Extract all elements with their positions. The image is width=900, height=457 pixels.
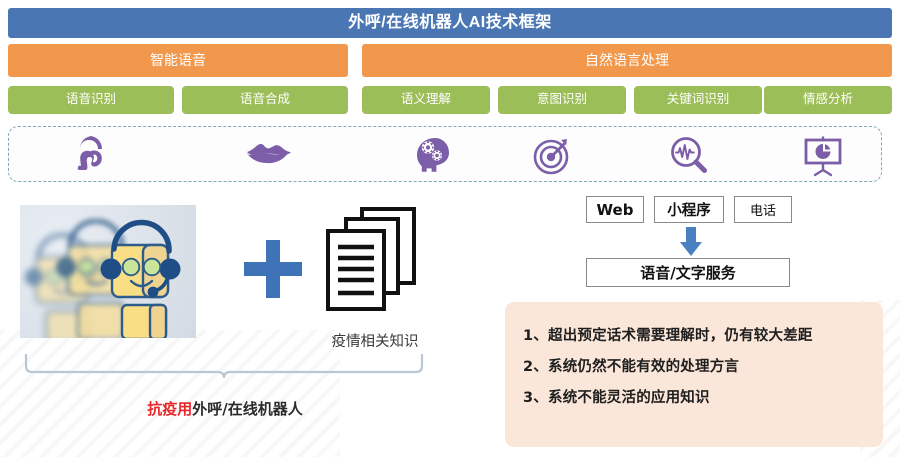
arrow-down-icon	[676, 227, 706, 257]
layer3-item-keyword-recognition: 关键词识别	[634, 86, 762, 114]
background-hatch-texture-left	[0, 330, 340, 457]
channel-box-phone[interactable]: 电话	[734, 196, 792, 223]
layer3-item-semantic-understanding: 语义理解	[362, 86, 490, 114]
channel-box-miniprogram[interactable]: 小程序	[654, 196, 724, 223]
documents-stack-icon	[320, 205, 430, 323]
ear-icon	[69, 131, 117, 179]
layer3-item-asr: 语音识别	[8, 86, 174, 114]
issues-panel: 1、超出预定话术需要理解时，仍有较大差距 2、系统仍然不能有效的处理方言 3、系…	[505, 302, 883, 447]
magnifier-waveform-icon	[665, 131, 713, 179]
issue-item-1: 1、超出预定话术需要理解时，仍有较大差距	[523, 324, 873, 345]
technology-icon-strip	[8, 126, 882, 182]
grouping-brace	[24, 352, 424, 380]
lips-icon	[245, 131, 293, 179]
service-box-voice-text: 语音/文字服务	[586, 258, 790, 287]
robot-with-headset-photo	[20, 205, 196, 338]
layer3-item-intent-recognition: 意图识别	[498, 86, 626, 114]
target-icon	[529, 131, 577, 179]
head-gears-icon	[409, 131, 457, 179]
brace-caption: 抗疫用外呼/在线机器人	[100, 398, 350, 419]
slide-canvas: 外呼/在线机器人AI技术框架 智能语音 自然语言处理 语音识别 语音合成 语义理…	[0, 0, 900, 457]
layer3-item-tts: 语音合成	[182, 86, 348, 114]
plus-sign-icon	[242, 238, 304, 300]
framework-title-bar: 外呼/在线机器人AI技术框架	[8, 8, 892, 38]
documents-caption: 疫情相关知识	[300, 330, 450, 351]
issue-item-3: 3、系统不能灵活的应用知识	[523, 386, 873, 407]
brace-caption-rest: 外呼/在线机器人	[192, 400, 302, 418]
layer3-item-sentiment-analysis: 情感分析	[764, 86, 892, 114]
presentation-chart-icon	[799, 131, 847, 179]
brace-caption-highlight: 抗疫用	[147, 400, 192, 418]
layer2-item-nlp: 自然语言处理	[362, 44, 892, 77]
layer2-item-smart-voice: 智能语音	[8, 44, 348, 77]
issue-item-2: 2、系统仍然不能有效的处理方言	[523, 355, 873, 376]
channel-box-web[interactable]: Web	[586, 196, 644, 223]
